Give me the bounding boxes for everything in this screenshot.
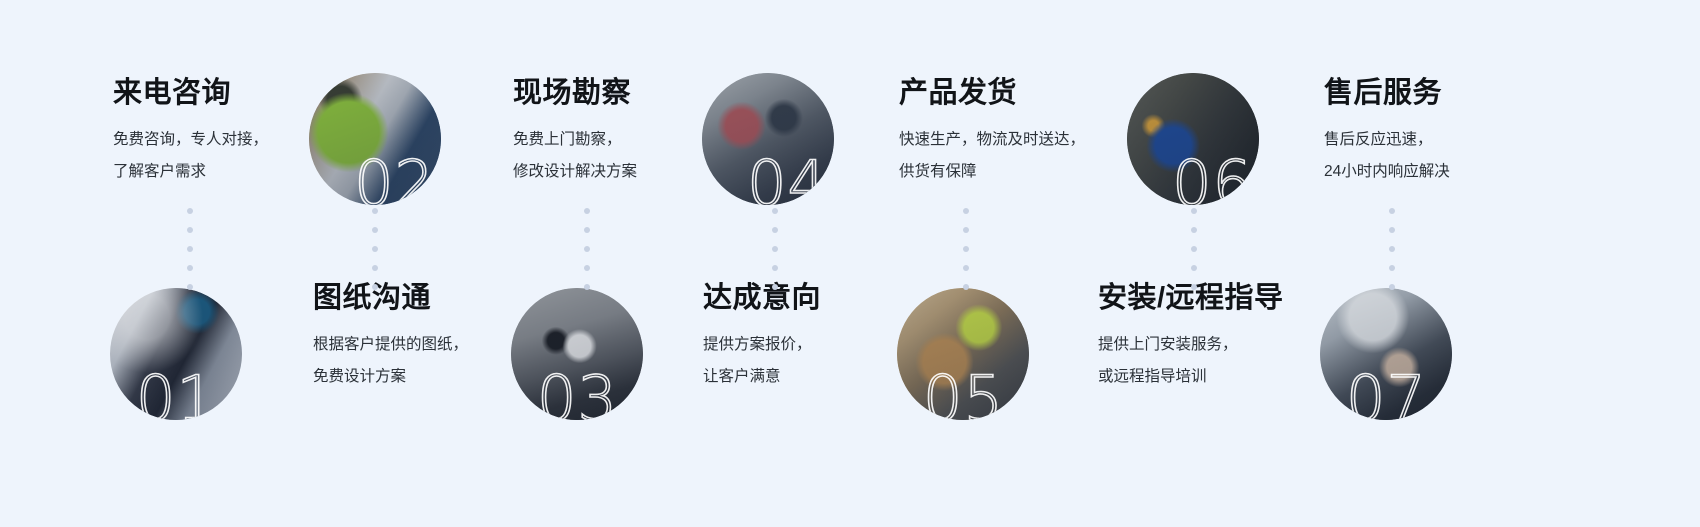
dotted-connector-6 [1191,208,1197,290]
connector-dot [772,265,778,271]
dotted-connector-5 [963,208,969,290]
step-desc-line: 24小时内响应解决 [1324,156,1450,188]
step-title-05: 产品发货 [899,78,1085,110]
connector-dot [187,246,193,252]
connector-dot [963,208,969,214]
step-text-04: 达成意向 提供方案报价， 让客户满意 [703,283,821,392]
step-desc-line: 提供上门安装服务， [1098,329,1284,361]
dotted-connector-1 [187,208,193,290]
connector-dot [1191,284,1197,290]
step-desc-01: 免费咨询，专人对接， 了解客户需求 [113,124,268,188]
step-text-06: 安装/远程指导 提供上门安装服务， 或远程指导培训 [1098,283,1284,392]
connector-dot [584,265,590,271]
process-steps-diagram: 来电咨询 免费咨询，专人对接， 了解客户需求 现场勘察 免费上门勘察， 修改设计… [0,0,1700,527]
step-desc-line: 免费上门勘察， [513,124,637,156]
step-text-05: 产品发货 快速生产，物流及时送达， 供货有保障 [899,78,1085,187]
step-desc-line: 免费咨询，专人对接， [113,124,268,156]
connector-dot [372,284,378,290]
connector-dot [372,265,378,271]
step-circle-05[interactable]: 05 [897,288,1029,420]
connector-dot [584,208,590,214]
step-desc-line: 了解客户需求 [113,156,268,188]
connector-dot [1191,227,1197,233]
step-circle-02[interactable]: 02 [309,73,441,205]
photo-overlay [1127,73,1259,205]
photo-overlay [897,288,1029,420]
step-title-01: 来电咨询 [113,78,268,110]
connector-dot [584,227,590,233]
step-desc-05: 快速生产，物流及时送达， 供货有保障 [899,124,1085,188]
connector-dot [963,265,969,271]
step-desc-line: 或远程指导培训 [1098,361,1284,393]
photo-overlay [309,73,441,205]
step-desc-03: 免费上门勘察， 修改设计解决方案 [513,124,637,188]
connector-dot [584,284,590,290]
step-text-02: 图纸沟通 根据客户提供的图纸， 免费设计方案 [313,283,468,392]
step-text-03: 现场勘察 免费上门勘察， 修改设计解决方案 [513,78,637,187]
step-title-04: 达成意向 [703,283,821,315]
connector-dot [963,227,969,233]
photo-overlay [1320,288,1452,420]
connector-dot [1191,265,1197,271]
dotted-connector-3 [584,208,590,290]
photo-overlay [702,73,834,205]
step-text-07: 售后服务 售后反应迅速， 24小时内响应解决 [1324,78,1450,187]
dotted-connector-7 [1389,208,1395,290]
step-desc-line: 免费设计方案 [313,361,468,393]
step-desc-line: 让客户满意 [703,361,821,393]
connector-dot [1389,265,1395,271]
step-desc-06: 提供上门安装服务， 或远程指导培训 [1098,329,1284,393]
connector-dot [584,246,590,252]
step-title-07: 售后服务 [1324,78,1450,110]
connector-dot [372,208,378,214]
step-circle-06[interactable]: 06 [1127,73,1259,205]
connector-dot [1389,284,1395,290]
step-circle-07[interactable]: 07 [1320,288,1452,420]
step-desc-line: 提供方案报价， [703,329,821,361]
connector-dot [772,284,778,290]
step-desc-line: 供货有保障 [899,156,1085,188]
photo-overlay [110,288,242,420]
step-text-01: 来电咨询 免费咨询，专人对接， 了解客户需求 [113,78,268,187]
connector-dot [1191,246,1197,252]
step-desc-line: 根据客户提供的图纸， [313,329,468,361]
step-circle-03[interactable]: 03 [511,288,643,420]
step-desc-07: 售后反应迅速， 24小时内响应解决 [1324,124,1450,188]
dotted-connector-4 [772,208,778,290]
connector-dot [1191,208,1197,214]
connector-dot [187,208,193,214]
step-desc-line: 修改设计解决方案 [513,156,637,188]
connector-dot [187,227,193,233]
step-circle-01[interactable]: 01 [110,288,242,420]
dotted-connector-2 [372,208,378,290]
connector-dot [1389,227,1395,233]
connector-dot [372,246,378,252]
step-title-03: 现场勘察 [513,78,637,110]
connector-dot [772,208,778,214]
connector-dot [772,227,778,233]
step-desc-02: 根据客户提供的图纸， 免费设计方案 [313,329,468,393]
connector-dot [187,284,193,290]
connector-dot [963,246,969,252]
step-circle-04[interactable]: 04 [702,73,834,205]
connector-dot [772,246,778,252]
step-desc-04: 提供方案报价， 让客户满意 [703,329,821,393]
connector-dot [1389,246,1395,252]
connector-dot [1389,208,1395,214]
step-desc-line: 售后反应迅速， [1324,124,1450,156]
connector-dot [963,284,969,290]
photo-overlay [511,288,643,420]
connector-dot [372,227,378,233]
step-desc-line: 快速生产，物流及时送达， [899,124,1085,156]
connector-dot [187,265,193,271]
step-title-02: 图纸沟通 [313,283,468,315]
